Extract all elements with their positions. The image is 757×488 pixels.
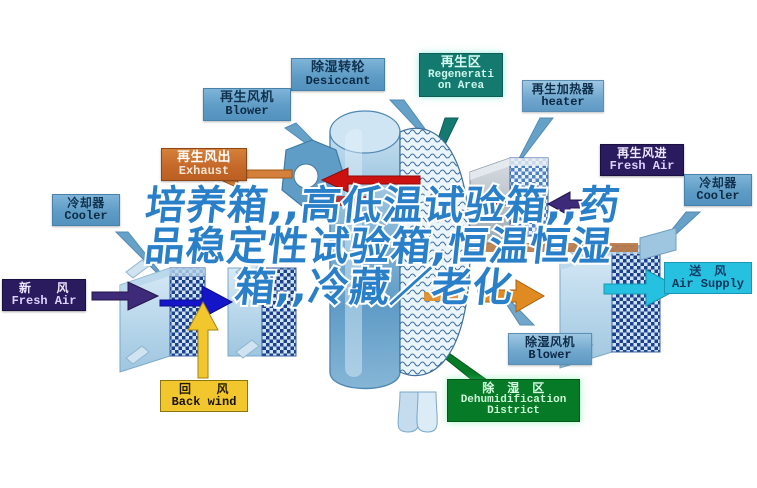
label-dehumidification-district: 除 湿 区 Dehumidification District — [447, 379, 580, 422]
label-cooler-right: 冷却器 Cooler — [684, 174, 752, 206]
process-air-coil — [228, 260, 296, 358]
label-back-wind: 回 风 Back wind — [160, 380, 248, 412]
right-cooler-unit — [640, 228, 676, 260]
label-cooler-left: 冷却器 Cooler — [52, 194, 120, 226]
label-regeneration-blower: 再生风机 Blower — [203, 88, 291, 121]
label-regeneration-heater: 再生加热器 heater — [522, 80, 604, 112]
label-regeneration-fresh-air: 再生风进 Fresh Air — [600, 144, 684, 176]
diagram-canvas: 除湿转轮 Desiccant 再生风机 Blower 再生区 Regenerat… — [0, 0, 757, 488]
label-regeneration-exhaust: 再生风出 Exhaust — [161, 148, 247, 181]
label-air-supply: 送 风 Air Supply — [664, 262, 752, 294]
arrow-regen-fresh-purple — [548, 192, 598, 216]
left-cooling-coil — [120, 260, 205, 372]
label-regeneration-area: 再生区 Regenerati on Area — [419, 53, 503, 97]
label-fresh-air: 新 风 Fresh Air — [2, 279, 86, 311]
label-dehumidification-blower: 除湿风机 Blower — [508, 333, 592, 365]
label-desiccant: 除湿转轮 Desiccant — [291, 58, 385, 91]
